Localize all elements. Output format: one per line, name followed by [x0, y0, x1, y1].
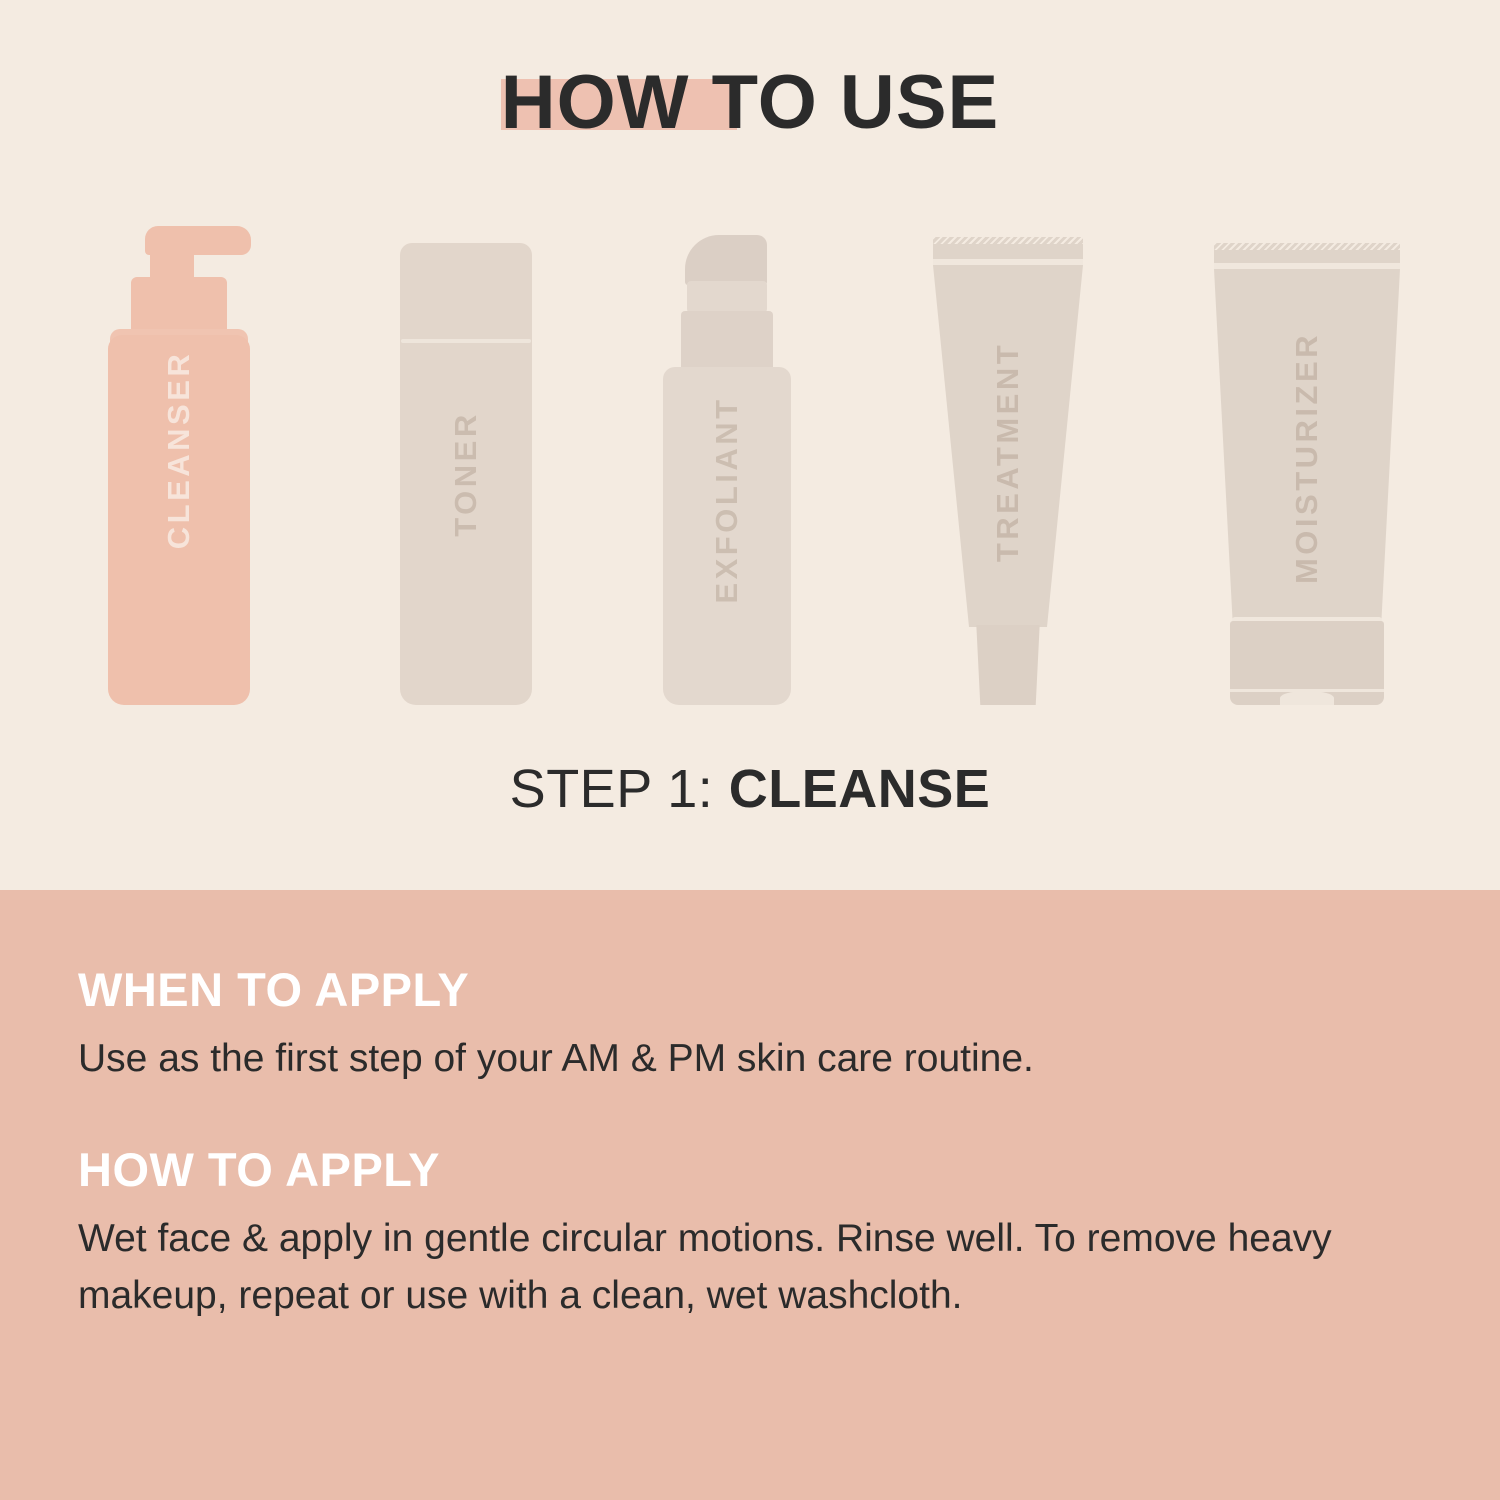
title-highlight-word: HOW [501, 60, 690, 145]
title-rest-word: TO USE [690, 60, 1000, 145]
infographic-page: HOW TO USE CLEANSER TONER [0, 0, 1500, 1500]
airless-pump-band [687, 281, 767, 313]
tube-seal-gap [933, 259, 1083, 265]
airless-pump-collar [681, 311, 773, 373]
product-toner[interactable]: TONER [400, 243, 540, 705]
section-body-how: Wet face & apply in gentle circular moti… [78, 1210, 1358, 1325]
product-label-exfoliant: EXFOLIANT [709, 396, 745, 603]
pump-stem-icon [150, 227, 194, 281]
section-heading-how: HOW TO APPLY [78, 1145, 1408, 1196]
step-line: STEP 1: CLEANSE [0, 758, 1500, 820]
tube-crimp-seal-icon [933, 237, 1083, 259]
product-label-toner: TONER [448, 411, 484, 536]
airless-pump-cap-icon [685, 235, 767, 285]
title-text-block: HOW TO USE [501, 58, 999, 148]
tube-crimp-seal-icon [1214, 243, 1400, 263]
product-label-cleanser: CLEANSER [161, 351, 197, 550]
product-cleanser[interactable]: CLEANSER [108, 225, 308, 705]
tube-cap [975, 625, 1041, 705]
instructions-panel: WHEN TO APPLY Use as the first step of y… [0, 890, 1500, 1500]
section-when-to-apply: WHEN TO APPLY Use as the first step of y… [78, 965, 1408, 1087]
section-how-to-apply: HOW TO APPLY Wet face & apply in gentle … [78, 1145, 1408, 1325]
product-lineup: CLEANSER TONER EXFOLIANT [0, 225, 1500, 705]
step-number: STEP 1: [510, 759, 729, 819]
product-treatment[interactable]: TREATMENT [925, 237, 1090, 705]
section-heading-when: WHEN TO APPLY [78, 965, 1408, 1016]
bottle-cap-seam [401, 339, 531, 343]
tube-seal-gap [1214, 263, 1400, 269]
step-name: CLEANSE [729, 759, 991, 819]
product-exfoliant[interactable]: EXFOLIANT [663, 235, 799, 705]
top-panel: HOW TO USE CLEANSER TONER [0, 0, 1500, 890]
tube-cap-notch-icon [1280, 691, 1334, 705]
page-title: HOW TO USE [0, 58, 1500, 148]
product-label-moisturizer: MOISTURIZER [1289, 332, 1325, 584]
section-body-when: Use as the first step of your AM & PM sk… [78, 1030, 1358, 1088]
product-label-treatment: TREATMENT [990, 342, 1026, 562]
step-caption: STEP 1: CLEANSE [0, 758, 1500, 820]
product-moisturizer[interactable]: MOISTURIZER [1208, 243, 1404, 705]
